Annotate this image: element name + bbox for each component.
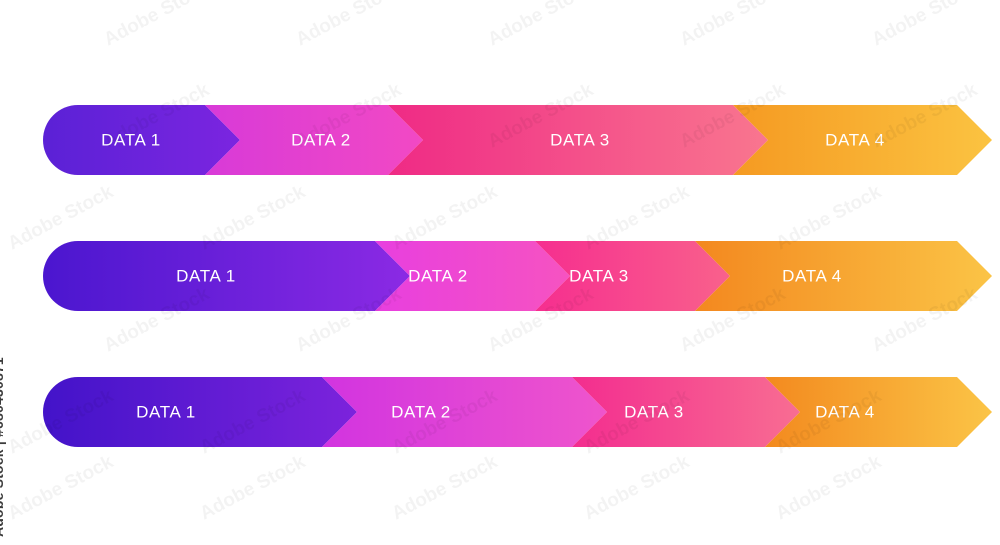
watermark-tile: Adobe Stock xyxy=(196,451,309,524)
segment-label: DATA 2 xyxy=(408,266,468,285)
watermark-tile: Adobe Stock xyxy=(772,451,885,524)
watermark-tile: Adobe Stock xyxy=(484,0,597,50)
watermark-tile: Adobe Stock xyxy=(676,0,789,50)
segment-label: DATA 3 xyxy=(550,130,610,149)
segment-label: DATA 1 xyxy=(176,266,236,285)
segment-label: DATA 3 xyxy=(569,266,629,285)
watermark-tile: Adobe Stock xyxy=(4,451,117,524)
watermark-tile: Adobe Stock xyxy=(388,451,501,524)
process-arrow-diagram: DATA 1DATA 2DATA 3DATA 4DATA 1DATA 2DATA… xyxy=(0,0,1000,545)
bars-layer: DATA 1DATA 2DATA 3DATA 4DATA 1DATA 2DATA… xyxy=(43,105,992,447)
watermark-tile: Adobe Stock xyxy=(100,0,213,50)
segment-label: DATA 1 xyxy=(136,402,196,421)
watermark-tile: Adobe Stock xyxy=(580,451,693,524)
segment-label: DATA 4 xyxy=(782,266,842,285)
watermark-tile: Adobe Stock xyxy=(868,0,981,50)
watermark-tile: Adobe Stock xyxy=(292,0,405,50)
adobe-stock-watermark-id: Adobe Stock | #680430871 xyxy=(0,357,6,537)
